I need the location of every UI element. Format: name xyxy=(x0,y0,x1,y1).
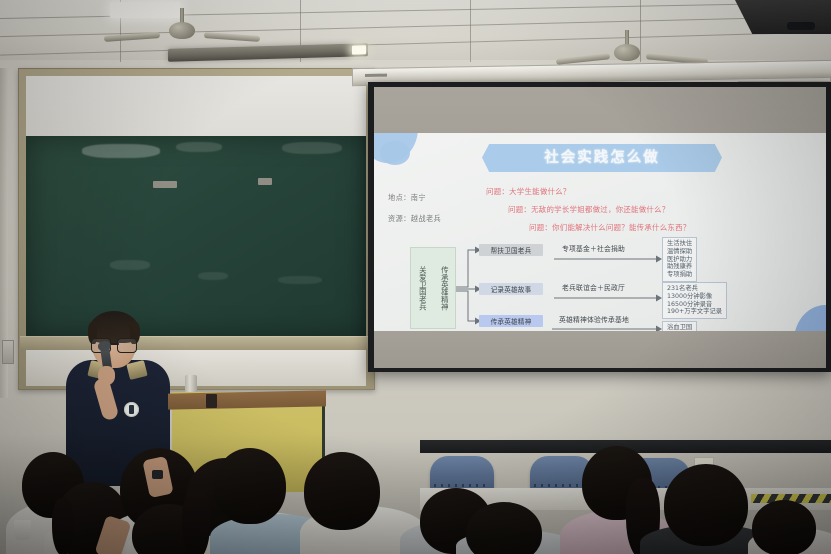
diagram-action-3: 传承英雄精神 xyxy=(479,315,543,327)
outcome-item: 浴血卫国 xyxy=(667,324,692,331)
lectern-top-surface xyxy=(168,390,326,409)
student-head xyxy=(752,500,816,554)
speaker-hand xyxy=(98,366,115,385)
student-hair xyxy=(52,498,74,554)
student-head xyxy=(304,452,380,530)
diagram-method-2: 老兵联谊会＋民政厅 xyxy=(562,282,625,292)
presentation-slide: 社会实践怎么做 地点：南宁 资源：越战老兵 问题：大学生能做什么？ 问题：无敌的… xyxy=(374,133,826,331)
decor-blob-top-left-2-icon xyxy=(380,141,410,165)
light-switch[interactable] xyxy=(2,340,14,364)
classroom-photo: 社会实践怎么做 地点：南宁 资源：越战老兵 问题：大学生能做什么？ 问题：无敌的… xyxy=(0,0,831,554)
outcome-item: 231名老兵 xyxy=(667,285,722,293)
diagram-theme-box: 关爱卫国老兵 传承英雄精神 xyxy=(410,247,456,329)
wristwatch-icon xyxy=(152,470,163,479)
outcome-item: 专项捐助 xyxy=(667,271,692,279)
diagram-outcome-box-2: 231名老兵 13000分钟影像 16500分钟录音 190+万字文字记录 xyxy=(662,282,727,319)
diagram-action-2: 记录英雄故事 xyxy=(479,283,543,295)
letterbox-bottom xyxy=(374,331,826,368)
theme-column-right: 传承英雄精神 xyxy=(433,248,455,328)
lectern-notch xyxy=(206,394,217,408)
slide-question-1: 问题：大学生能做什么？ xyxy=(486,186,571,197)
student-head xyxy=(214,448,286,524)
outcome-item: 生活扶住 xyxy=(667,240,692,248)
diagram-action-1: 帮扶卫国老兵 xyxy=(479,244,543,256)
diagram-outcome-box-1: 生活扶住 温情探助 医护助力 助残康养 专项捐助 xyxy=(662,237,697,282)
whiteboard-upper-panel xyxy=(26,76,366,136)
slide-title: 社会实践怎么做 xyxy=(482,146,722,167)
slide-question-3: 问题：你们能解决什么问题？能传承什么东西？ xyxy=(529,222,691,233)
outcome-item: 13000分钟影像 xyxy=(667,293,722,301)
letterbox-top xyxy=(374,87,826,133)
slide-meta-resource: 资源：越战老兵 xyxy=(388,214,441,224)
theme-column-left: 关爱卫国老兵 xyxy=(411,248,433,328)
student-head xyxy=(664,464,748,546)
diagram-outcome-box-3: 浴血卫国 热火建设 青春不悔 xyxy=(662,321,697,331)
shirt-logo-icon xyxy=(124,402,139,417)
blackboard-surface xyxy=(26,136,366,336)
slide-question-2: 问题：无敌的学长学姐都做过，你还能做什么？ xyxy=(508,204,670,215)
ceiling-fan-left xyxy=(152,8,212,48)
projection-screen-surface: 社会实践怎么做 地点：南宁 资源：越战老兵 问题：大学生能做什么？ 问题：无敌的… xyxy=(374,87,826,368)
projector-lens-icon xyxy=(787,22,815,30)
diagram-method-3: 英雄精神体验传承基地 xyxy=(559,314,629,324)
slide-meta-location: 地点：南宁 xyxy=(388,193,426,203)
student-ponytail xyxy=(182,490,210,554)
diagram-method-1: 专项基金＋社会捐助 xyxy=(562,243,625,253)
outcome-item: 温情探助 xyxy=(667,248,692,256)
slide-diagram: 关爱卫国老兵 传承英雄精神 帮扶卫国老兵 记录英雄故事 传承英雄精神 专项基金＋… xyxy=(374,237,826,331)
outcome-item: 190+万字文字记录 xyxy=(667,308,722,316)
auditorium-chair xyxy=(430,456,494,490)
paper-cup xyxy=(14,520,31,540)
